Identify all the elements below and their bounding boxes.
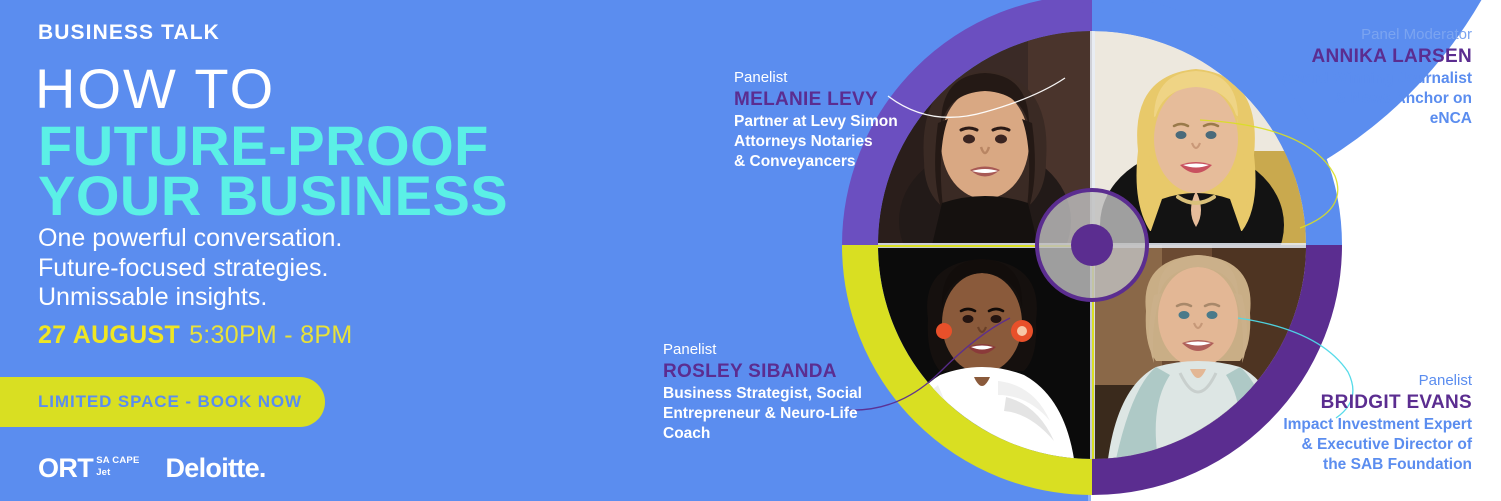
- center-hub-dot: [1071, 224, 1113, 266]
- speaker-bio-line-1: Partner at Levy Simon: [734, 112, 904, 132]
- speaker-bio-line-2: & News Anchor on: [1200, 89, 1472, 109]
- ort-logo-wordmark: ORT: [38, 455, 93, 482]
- speaker-bio-line-1: Business Strategist, Social: [663, 384, 863, 404]
- speaker-block-bridgit-evans: Panelist BRIDGIT EVANS Impact Investment…: [1180, 371, 1472, 475]
- speaker-name: ANNIKA LARSEN: [1200, 44, 1472, 69]
- book-now-label: LIMITED SPACE - BOOK NOW: [38, 392, 302, 412]
- speaker-bio-line-2: Attorneys Notaries: [734, 132, 904, 152]
- promo-banner: BUSINESS TALK HOW TO FUTURE-PROOF YOUR B…: [0, 0, 1501, 501]
- book-now-button[interactable]: LIMITED SPACE - BOOK NOW: [0, 377, 325, 427]
- subtitle-block: One powerful conversation. Future-focuse…: [38, 224, 342, 313]
- subtitle-line-3: Unmissable insights.: [38, 283, 342, 313]
- subtitle-line-1: One powerful conversation.: [38, 224, 342, 254]
- speaker-block-annika-larsen: Panel Moderator ANNIKA LARSEN Award Winn…: [1200, 25, 1472, 129]
- event-time: 5:30PM - 8PM: [189, 321, 352, 349]
- sponsor-logos: ORT SA CAPE Jet Deloitte.: [38, 455, 266, 495]
- speaker-bio-line-1: Impact Investment Expert: [1180, 415, 1472, 435]
- ort-logo-subtext: SA CAPE Jet: [96, 456, 139, 478]
- ort-logo: ORT SA CAPE Jet: [38, 455, 139, 482]
- speaker-name: BRIDGIT EVANS: [1180, 390, 1472, 415]
- speaker-name: ROSLEY SIBANDA: [663, 359, 863, 384]
- headline-line-3: YOUR BUSINESS: [38, 166, 508, 226]
- headline-line-1: HOW TO: [35, 58, 275, 120]
- speaker-bio-line-2: Entrepreneur & Neuro-Life: [663, 404, 863, 424]
- subtitle-line-2: Future-focused strategies.: [38, 254, 342, 284]
- speaker-block-melanie-levy: Panelist MELANIE LEVY Partner at Levy Si…: [734, 68, 904, 172]
- speaker-role: Panel Moderator: [1200, 25, 1472, 44]
- speaker-bio-line-3: the SAB Foundation: [1180, 455, 1472, 475]
- speaker-name: MELANIE LEVY: [734, 87, 904, 112]
- speaker-block-rosley-sibanda: Panelist ROSLEY SIBANDA Business Strateg…: [663, 340, 863, 444]
- eyebrow-label: BUSINESS TALK: [38, 21, 220, 45]
- event-datetime: 27 AUGUST5:30PM - 8PM: [38, 320, 352, 350]
- speaker-bio-line-3: eNCA: [1200, 109, 1472, 129]
- deloitte-logo: Deloitte.: [165, 455, 265, 482]
- speaker-bio-line-3: & Conveyancers: [734, 152, 904, 172]
- speaker-bio-line-1: Award Winning Journalist: [1200, 69, 1472, 89]
- speaker-role: Panelist: [1180, 371, 1472, 390]
- ort-logo-sa-cape: SA CAPE: [96, 456, 139, 466]
- speaker-role: Panelist: [734, 68, 904, 87]
- event-date: 27 AUGUST: [38, 321, 180, 349]
- speaker-bio-line-2: & Executive Director of: [1180, 435, 1472, 455]
- ort-logo-jet: Jet: [96, 468, 139, 478]
- speaker-bio-line-3: Coach: [663, 424, 863, 444]
- speaker-role: Panelist: [663, 340, 863, 359]
